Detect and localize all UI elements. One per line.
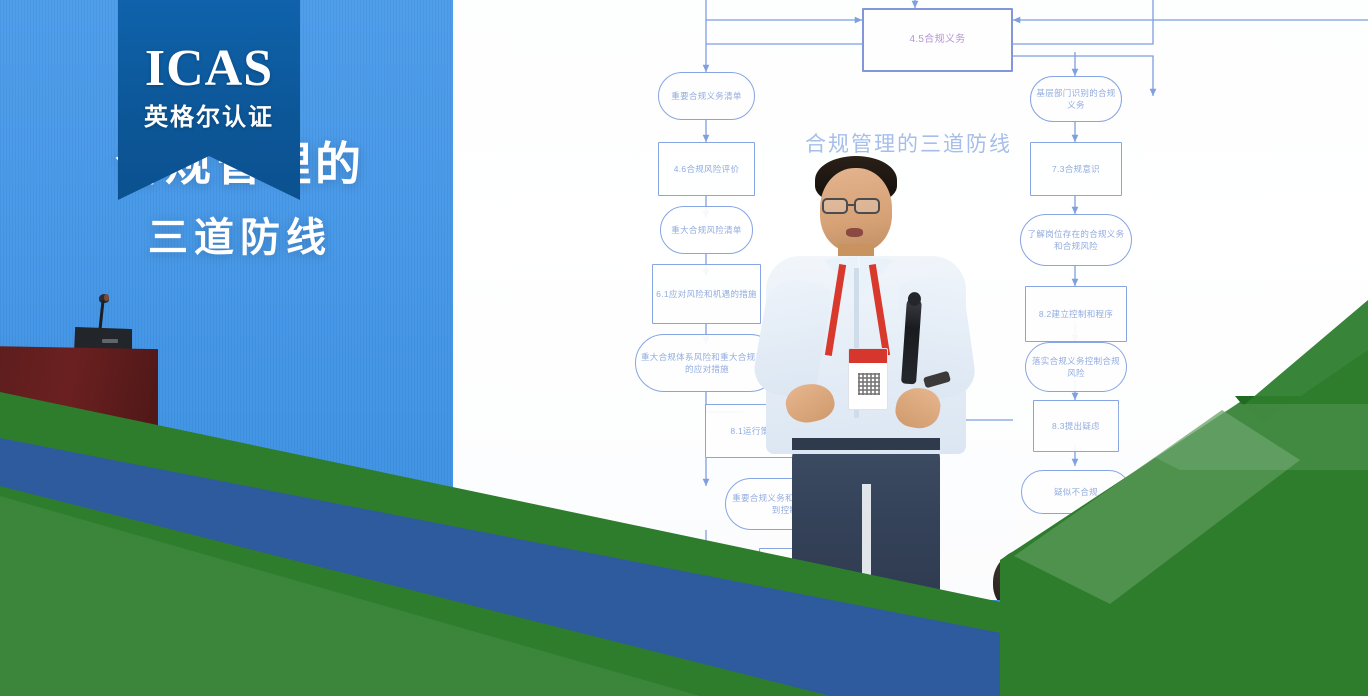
qr-code-icon bbox=[858, 373, 880, 395]
flow-node-dept-identified: 基层部门识别的合规义务 bbox=[1030, 76, 1122, 122]
speaker-leg-gap bbox=[862, 484, 871, 618]
speaker-belt bbox=[792, 438, 940, 450]
flow-node-raise-concern: 8.3提出疑虑 bbox=[1033, 400, 1119, 452]
icas-chinese-name: 英格尔认证 bbox=[144, 97, 274, 132]
flow-node-implement: 落实合规义务控制合规风险 bbox=[1025, 342, 1127, 392]
flow-node-awareness: 7.3合规意识 bbox=[1030, 142, 1122, 196]
screenshot-stage: 4.5合规义务 重要合规义务清单 4.6合规风险评价 重大合规风险清单 6.1应… bbox=[0, 0, 1368, 696]
speaker-person bbox=[758, 152, 988, 616]
speaker-mouth bbox=[846, 228, 863, 237]
glasses-right-lens bbox=[854, 198, 880, 214]
stage-headline-main: 三道防线 bbox=[40, 205, 440, 263]
flow-node-controls: 8.2建立控制和程序 bbox=[1025, 286, 1127, 342]
flow-node-risk-measures: 6.1应对风险和机遇的措施 bbox=[652, 264, 761, 324]
name-badge bbox=[848, 348, 888, 410]
flow-node-important-list: 重要合规义务清单 bbox=[658, 72, 755, 120]
flow-node-suspected: 疑似不合规 bbox=[1021, 470, 1131, 514]
flow-node-risk-eval: 4.6合规风险评价 bbox=[658, 142, 755, 196]
glasses-bridge bbox=[848, 204, 855, 206]
flow-node-post-understand: 了解岗位存在的合规义务和合规风险 bbox=[1020, 214, 1132, 266]
flow-node-obligations: 4.5合规义务 bbox=[862, 8, 1013, 72]
podium bbox=[0, 346, 158, 452]
badge-header-bar bbox=[849, 349, 887, 363]
icas-wordmark: ICAS bbox=[145, 44, 273, 93]
flow-node-major-risk-list: 重大合规风险清单 bbox=[660, 206, 753, 254]
glasses-left-lens bbox=[822, 198, 848, 214]
